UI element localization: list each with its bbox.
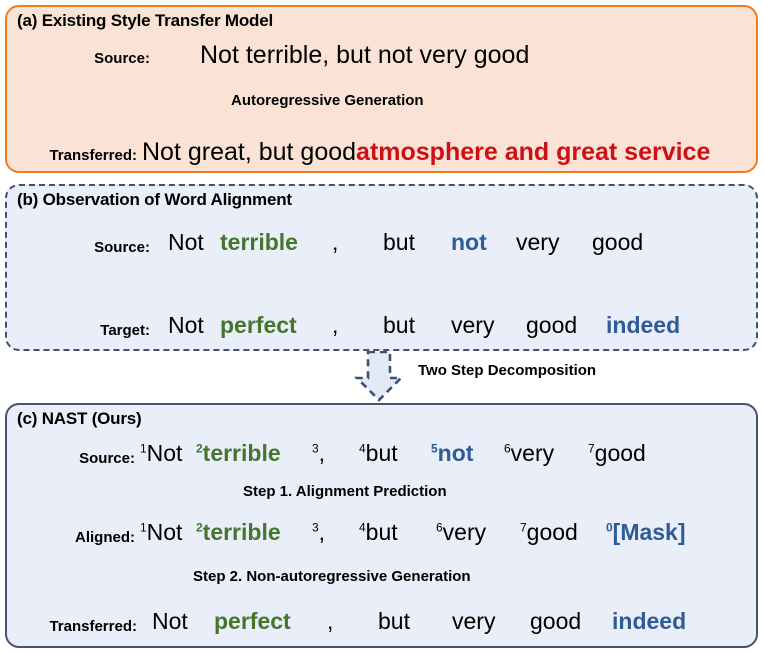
panel-c-aligned-word-0: Not [147,519,183,545]
panel-b-source-word-0: Not [168,229,204,256]
panel-c-source-token-2: 3, [312,440,325,467]
panel-c-source-word-0: Not [147,440,183,466]
panel-c-aligned-token-5: 7good [520,519,578,546]
panel-c-transferred-word-2: , [327,608,333,635]
panel-c-source-index-1: 2 [196,441,203,455]
two-step-decomposition-label: Two Step Decomposition [418,362,596,379]
panel-c-aligned-index-4: 6 [436,520,443,534]
panel-b-target-word-1: perfect [220,312,297,339]
panel-c-source-index-6: 7 [588,441,595,455]
panel-c-aligned-index-5: 7 [520,520,527,534]
panel-b-target-word-2: , [332,312,338,339]
panel-c-aligned-token-6: 0[Mask] [606,519,686,546]
panel-b-source-word-3: but [383,229,415,256]
panel-c-aligned-word-5: good [527,519,578,545]
panel-b-source-word-5: very [516,229,559,256]
panel-b-source-word-4: not [451,229,487,256]
panel-b-target-word-3: but [383,312,415,339]
panel-a-transferred-text: Not great, but good atmosphere and great… [142,138,710,167]
panel-c-transferred-word-0: Not [152,608,188,635]
panel-c-aligned-token-3: 4but [359,519,398,546]
panel-c-transferred-word-4: very [452,608,495,635]
panel-c-aligned-word-4: very [443,519,486,545]
panel-c-source-index-2: 3 [312,441,319,455]
panel-a-transferred-label: Transferred: [12,147,137,164]
panel-a-transferred-plain: Not great, but good [142,138,356,167]
panel-c-transferred-word-1: perfect [214,608,291,635]
panel-c-source-token-0: 1Not [140,440,182,467]
panel-c-step2-caption: Step 2. Non-autoregressive Generation [190,568,474,585]
panel-c-source-word-3: but [366,440,398,466]
panel-c-aligned-index-1: 2 [196,520,203,534]
panel-b-target-word-6: indeed [606,312,680,339]
panel-b-source-word-2: , [332,229,338,256]
panel-c-aligned-word-6: [Mask] [613,519,686,545]
panel-c-aligned-index-0: 1 [140,520,147,534]
panel-c-source-word-2: , [319,440,325,466]
panel-c-source-word-1: terrible [203,440,281,466]
panel-b-title: (b) Observation of Word Alignment [17,190,292,210]
panel-c-source-token-4: 5not [431,440,473,467]
panel-b-target-word-5: good [526,312,577,339]
panel-c-title: (c) NAST (Ours) [17,409,142,429]
panel-c-aligned-token-4: 6very [436,519,486,546]
panel-a-title: (a) Existing Style Transfer Model [17,11,273,31]
panel-b-target-word-0: Not [168,312,204,339]
panel-c-transferred-label: Transferred: [12,618,137,635]
panel-c-aligned-index-3: 4 [359,520,366,534]
panel-a-arrow-caption: Autoregressive Generation [231,92,424,109]
two-step-decomposition-arrow [357,352,401,400]
panel-b-target-label: Target: [60,322,150,339]
panel-c-aligned-token-0: 1Not [140,519,182,546]
panel-a-source-label: Source: [60,50,150,67]
panel-c-source-word-6: good [595,440,646,466]
panel-b-source-label: Source: [60,239,150,256]
panel-c-aligned-index-2: 3 [312,520,319,534]
panel-c-source-token-1: 2terrible [196,440,281,467]
panel-c-source-token-6: 7good [588,440,646,467]
panel-a-transferred-highlight: atmosphere and great service [356,138,710,167]
panel-c-aligned-word-3: but [366,519,398,545]
panel-c-aligned-label: Aligned: [45,529,135,546]
panel-c-source-word-4: not [438,440,474,466]
panel-c-source-label: Source: [45,450,135,467]
panel-c-source-index-5: 6 [504,441,511,455]
panel-b-target-word-4: very [451,312,494,339]
panel-c-transferred-word-5: good [530,608,581,635]
nast-figure: (a) Existing Style Transfer Model Source… [0,0,763,652]
panel-c-aligned-token-2: 3, [312,519,325,546]
panel-c-aligned-index-6: 0 [606,520,613,534]
panel-a-source-text: Not terrible, but not very good [200,41,529,70]
panel-c-source-index-3: 4 [359,441,366,455]
panel-c-transferred-word-6: indeed [612,608,686,635]
panel-c-source-token-3: 4but [359,440,398,467]
panel-c-aligned-word-2: , [319,519,325,545]
panel-c-aligned-word-1: terrible [203,519,281,545]
panel-c-transferred-word-3: but [378,608,410,635]
panel-b-source-word-1: terrible [220,229,298,256]
panel-b-source-word-6: good [592,229,643,256]
panel-c-source-index-4: 5 [431,441,438,455]
panel-c-source-word-5: very [511,440,554,466]
panel-c-step1-caption: Step 1. Alignment Prediction [243,483,447,500]
panel-c-source-index-0: 1 [140,441,147,455]
panel-c-aligned-token-1: 2terrible [196,519,281,546]
panel-c-source-token-5: 6very [504,440,554,467]
